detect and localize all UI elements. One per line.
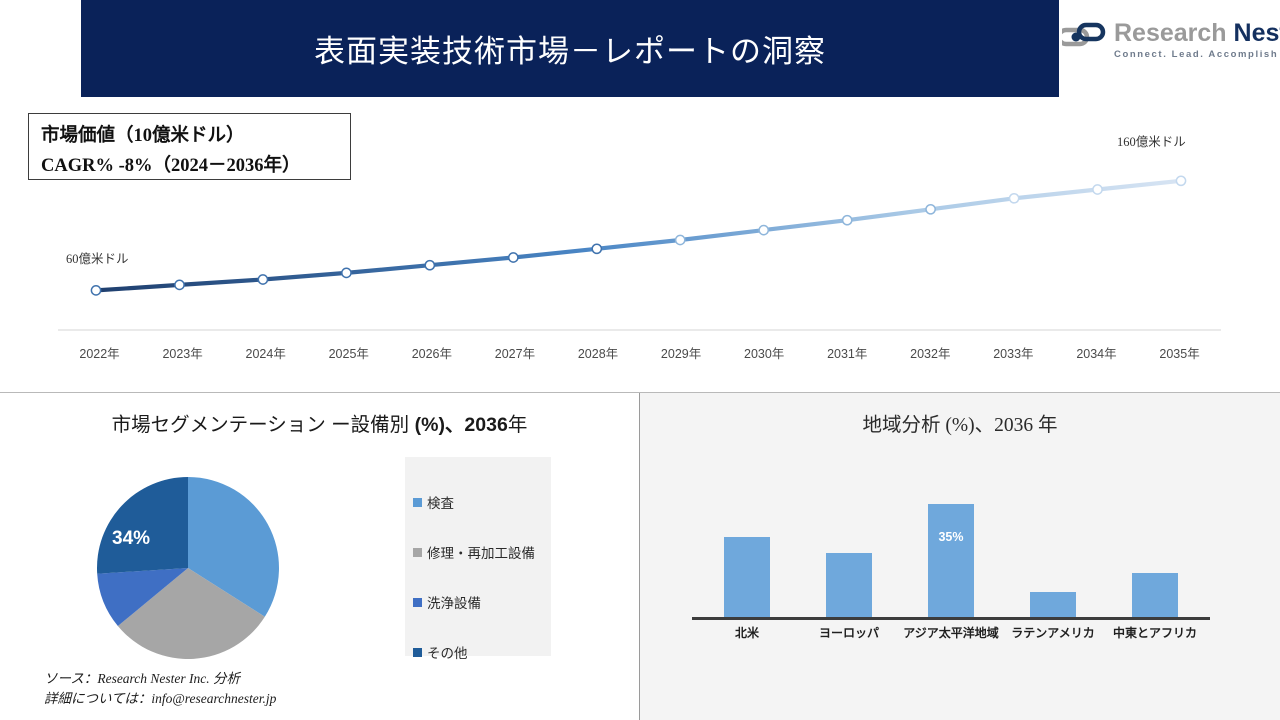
bar-slot (1002, 488, 1104, 618)
bar-data-label: 35% (928, 530, 974, 544)
x-axis-tick-label: 2032年 (889, 343, 972, 362)
line-data-point (759, 226, 768, 235)
x-axis-tick-label: 2033年 (972, 343, 1055, 362)
line-data-point (1010, 194, 1019, 203)
x-axis-tick-label: 2025年 (307, 343, 390, 362)
bar-x-axis-label: 北米 (696, 624, 798, 641)
line-data-point (509, 253, 518, 262)
bar-slot (1104, 488, 1206, 618)
segmentation-pie-chart (95, 475, 281, 661)
segmentation-title-plain: 市場セグメンテーション ー設備別 (112, 414, 415, 436)
bar-x-axis-label: 中東とアフリカ (1104, 624, 1206, 641)
legend-item[interactable]: 修理・再加工設備 (413, 527, 551, 577)
legend-swatch-icon (413, 598, 422, 607)
logo-wordmark: Research Nester (1114, 21, 1280, 46)
x-axis-tick-label: 2035年 (1138, 343, 1221, 362)
bar-x-axis-label: ラテンアメリカ (1002, 624, 1104, 641)
pie-chart-svg (95, 475, 281, 661)
line-start-value-label: 60億米ドル (66, 248, 129, 267)
bar: 35% (928, 504, 974, 618)
bar-row: 35% (696, 488, 1206, 618)
research-nester-logo-icon (1062, 21, 1106, 60)
line-data-point (592, 244, 601, 253)
x-axis-tick-label: 2027年 (473, 343, 556, 362)
line-data-point (425, 261, 434, 270)
bar-x-axis-label: アジア太平洋地域 (900, 624, 1002, 641)
market-value-line-chart: 60億米ドル 160億米ドル 2022年2023年2024年2025年2026年… (0, 100, 1280, 385)
legend-label: 洗浄設備 (427, 592, 481, 612)
bar-slot (798, 488, 900, 618)
x-axis-tick-label: 2031年 (806, 343, 889, 362)
x-axis-tick-label: 2024年 (224, 343, 307, 362)
logo-word-nester: Nester (1234, 19, 1280, 47)
legend-label: 検査 (427, 492, 454, 512)
bar (826, 553, 872, 618)
bar-chart-baseline (692, 617, 1210, 620)
x-axis-tick-label: 2030年 (723, 343, 806, 362)
x-axis-tick-label: 2029年 (640, 343, 723, 362)
x-axis-tick-label: 2026年 (390, 343, 473, 362)
segmentation-title: 市場セグメンテーション ー設備別 (%)、2036年 (0, 408, 639, 437)
line-chart-x-axis: 2022年2023年2024年2025年2026年2027年2028年2029年… (58, 343, 1221, 362)
line-data-point (258, 275, 267, 284)
pie-slice (97, 477, 188, 574)
segmentation-title-bold: (%)、2036 (415, 414, 508, 436)
legend-label: 修理・再加工設備 (427, 542, 535, 562)
x-axis-tick-label: 2022年 (58, 343, 141, 362)
x-axis-tick-label: 2034年 (1055, 343, 1138, 362)
logo-tagline: Connect. Lead. Accomplish (1114, 50, 1280, 60)
legend-item[interactable]: その他 (413, 627, 551, 677)
page-title: 表面実装技術市場－レポートの洞察 (314, 26, 826, 71)
line-data-point (175, 280, 184, 289)
bar-slot: 35% (900, 488, 1002, 618)
brand-logo[interactable]: Research Nester Connect. Lead. Accomplis… (1062, 14, 1274, 66)
header-banner: 表面実装技術市場－レポートの洞察 (81, 0, 1059, 97)
pie-data-label: 34% (112, 528, 150, 550)
line-data-point (926, 205, 935, 214)
pie-legend: 検査修理・再加工設備洗浄設備その他 (405, 457, 551, 656)
bar (724, 537, 770, 618)
legend-swatch-icon (413, 498, 422, 507)
x-axis-tick-label: 2028年 (556, 343, 639, 362)
legend-item[interactable]: 洗浄設備 (413, 577, 551, 627)
bar (1030, 592, 1076, 618)
x-axis-tick-label: 2023年 (141, 343, 224, 362)
bar (1132, 573, 1178, 619)
logo-text: Research Nester Connect. Lead. Accomplis… (1114, 21, 1280, 60)
region-title: 地域分析 (%)、2036 年 (640, 408, 1280, 437)
line-data-point (843, 216, 852, 225)
line-data-point (91, 286, 100, 295)
legend-swatch-icon (413, 548, 422, 557)
line-data-point (1176, 176, 1185, 185)
line-data-point (342, 268, 351, 277)
legend-swatch-icon (413, 648, 422, 657)
bar-chart-x-axis: 北米ヨーロッパアジア太平洋地域ラテンアメリカ中東とアフリカ (696, 624, 1206, 641)
segmentation-title-tail: 年 (508, 414, 528, 436)
bar-x-axis-label: ヨーロッパ (798, 624, 900, 641)
line-data-point (676, 235, 685, 244)
region-panel: 地域分析 (%)、2036 年 35% 北米ヨーロッパアジア太平洋地域ラテンアメ… (640, 393, 1280, 720)
region-bar-chart: 35% (696, 488, 1206, 618)
footnote-source: ソース：Research Nester Inc. 分析 (44, 669, 276, 689)
line-end-value-label: 160億米ドル (1117, 131, 1186, 150)
logo-word-research: Research (1114, 19, 1227, 47)
source-footnote: ソース：Research Nester Inc. 分析 詳細については：info… (44, 669, 276, 710)
bar-slot (696, 488, 798, 618)
legend-label: その他 (427, 642, 468, 662)
footnote-contact[interactable]: 詳細については：info@researchnester.jp (44, 689, 276, 709)
legend-item[interactable]: 検査 (413, 477, 551, 527)
line-data-point (1093, 185, 1102, 194)
